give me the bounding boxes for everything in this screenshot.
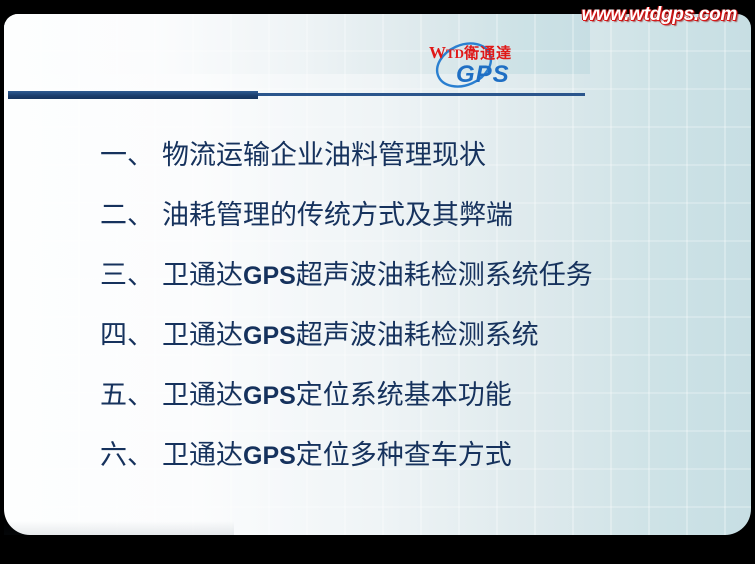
agenda-item-number: 一、 bbox=[100, 125, 162, 185]
agenda-item-6: 六、卫通达GPS定位多种查车方式 bbox=[100, 425, 700, 485]
agenda-item-text-post: 超声波油耗检测系统 bbox=[296, 320, 539, 350]
agenda-item-number: 二、 bbox=[100, 185, 162, 245]
agenda-list: 一、物流运输企业油料管理现状 二、油耗管理的传统方式及其弊端 三、卫通达GPS超… bbox=[100, 125, 700, 485]
logo-td: TD bbox=[446, 46, 464, 61]
agenda-item-text-post: 定位多种查车方式 bbox=[296, 440, 512, 470]
agenda-item-2: 二、油耗管理的传统方式及其弊端 bbox=[100, 185, 700, 245]
logo-gps-text: GPS bbox=[456, 63, 510, 87]
company-logo: WTD衛通達 GPS bbox=[412, 38, 542, 94]
agenda-item-number: 五、 bbox=[100, 365, 162, 425]
agenda-item-gps: GPS bbox=[243, 262, 296, 290]
agenda-item-text-post: 超声波油耗检测系统任务 bbox=[296, 260, 593, 290]
agenda-item-number: 四、 bbox=[100, 305, 162, 365]
agenda-item-5: 五、卫通达GPS定位系统基本功能 bbox=[100, 365, 700, 425]
agenda-item-text-pre: 物流运输企业油料管理现状 bbox=[162, 140, 486, 170]
agenda-item-1: 一、物流运输企业油料管理现状 bbox=[100, 125, 700, 185]
agenda-item-number: 六、 bbox=[100, 425, 162, 485]
logo-wordmark: WTD衛通達 bbox=[429, 44, 512, 62]
agenda-item-3: 三、卫通达GPS超声波油耗检测系统任务 bbox=[100, 245, 700, 305]
agenda-item-4: 四、卫通达GPS超声波油耗检测系统 bbox=[100, 305, 700, 365]
agenda-item-gps: GPS bbox=[243, 382, 296, 410]
agenda-item-text-pre: 卫通达 bbox=[162, 380, 243, 410]
agenda-item-text-pre: 油耗管理的传统方式及其弊端 bbox=[162, 200, 513, 230]
agenda-item-gps: GPS bbox=[243, 322, 296, 350]
agenda-item-gps: GPS bbox=[243, 442, 296, 470]
agenda-item-text-post: 定位系统基本功能 bbox=[296, 380, 512, 410]
agenda-item-text-pre: 卫通达 bbox=[162, 440, 243, 470]
website-url: www.wtdgps.com bbox=[581, 4, 737, 26]
logo-w: W bbox=[429, 43, 446, 62]
logo-cjk: 衛通達 bbox=[464, 46, 512, 62]
agenda-item-number: 三、 bbox=[100, 245, 162, 305]
header-rule-thin bbox=[258, 93, 585, 96]
presentation-slide: www.wtdgps.com WTD衛通達 GPS 一、物流运输企业油料管理现状… bbox=[0, 0, 755, 564]
agenda-item-text-pre: 卫通达 bbox=[162, 320, 243, 350]
agenda-item-text-pre: 卫通达 bbox=[162, 260, 243, 290]
header-rule-thick bbox=[8, 91, 258, 99]
